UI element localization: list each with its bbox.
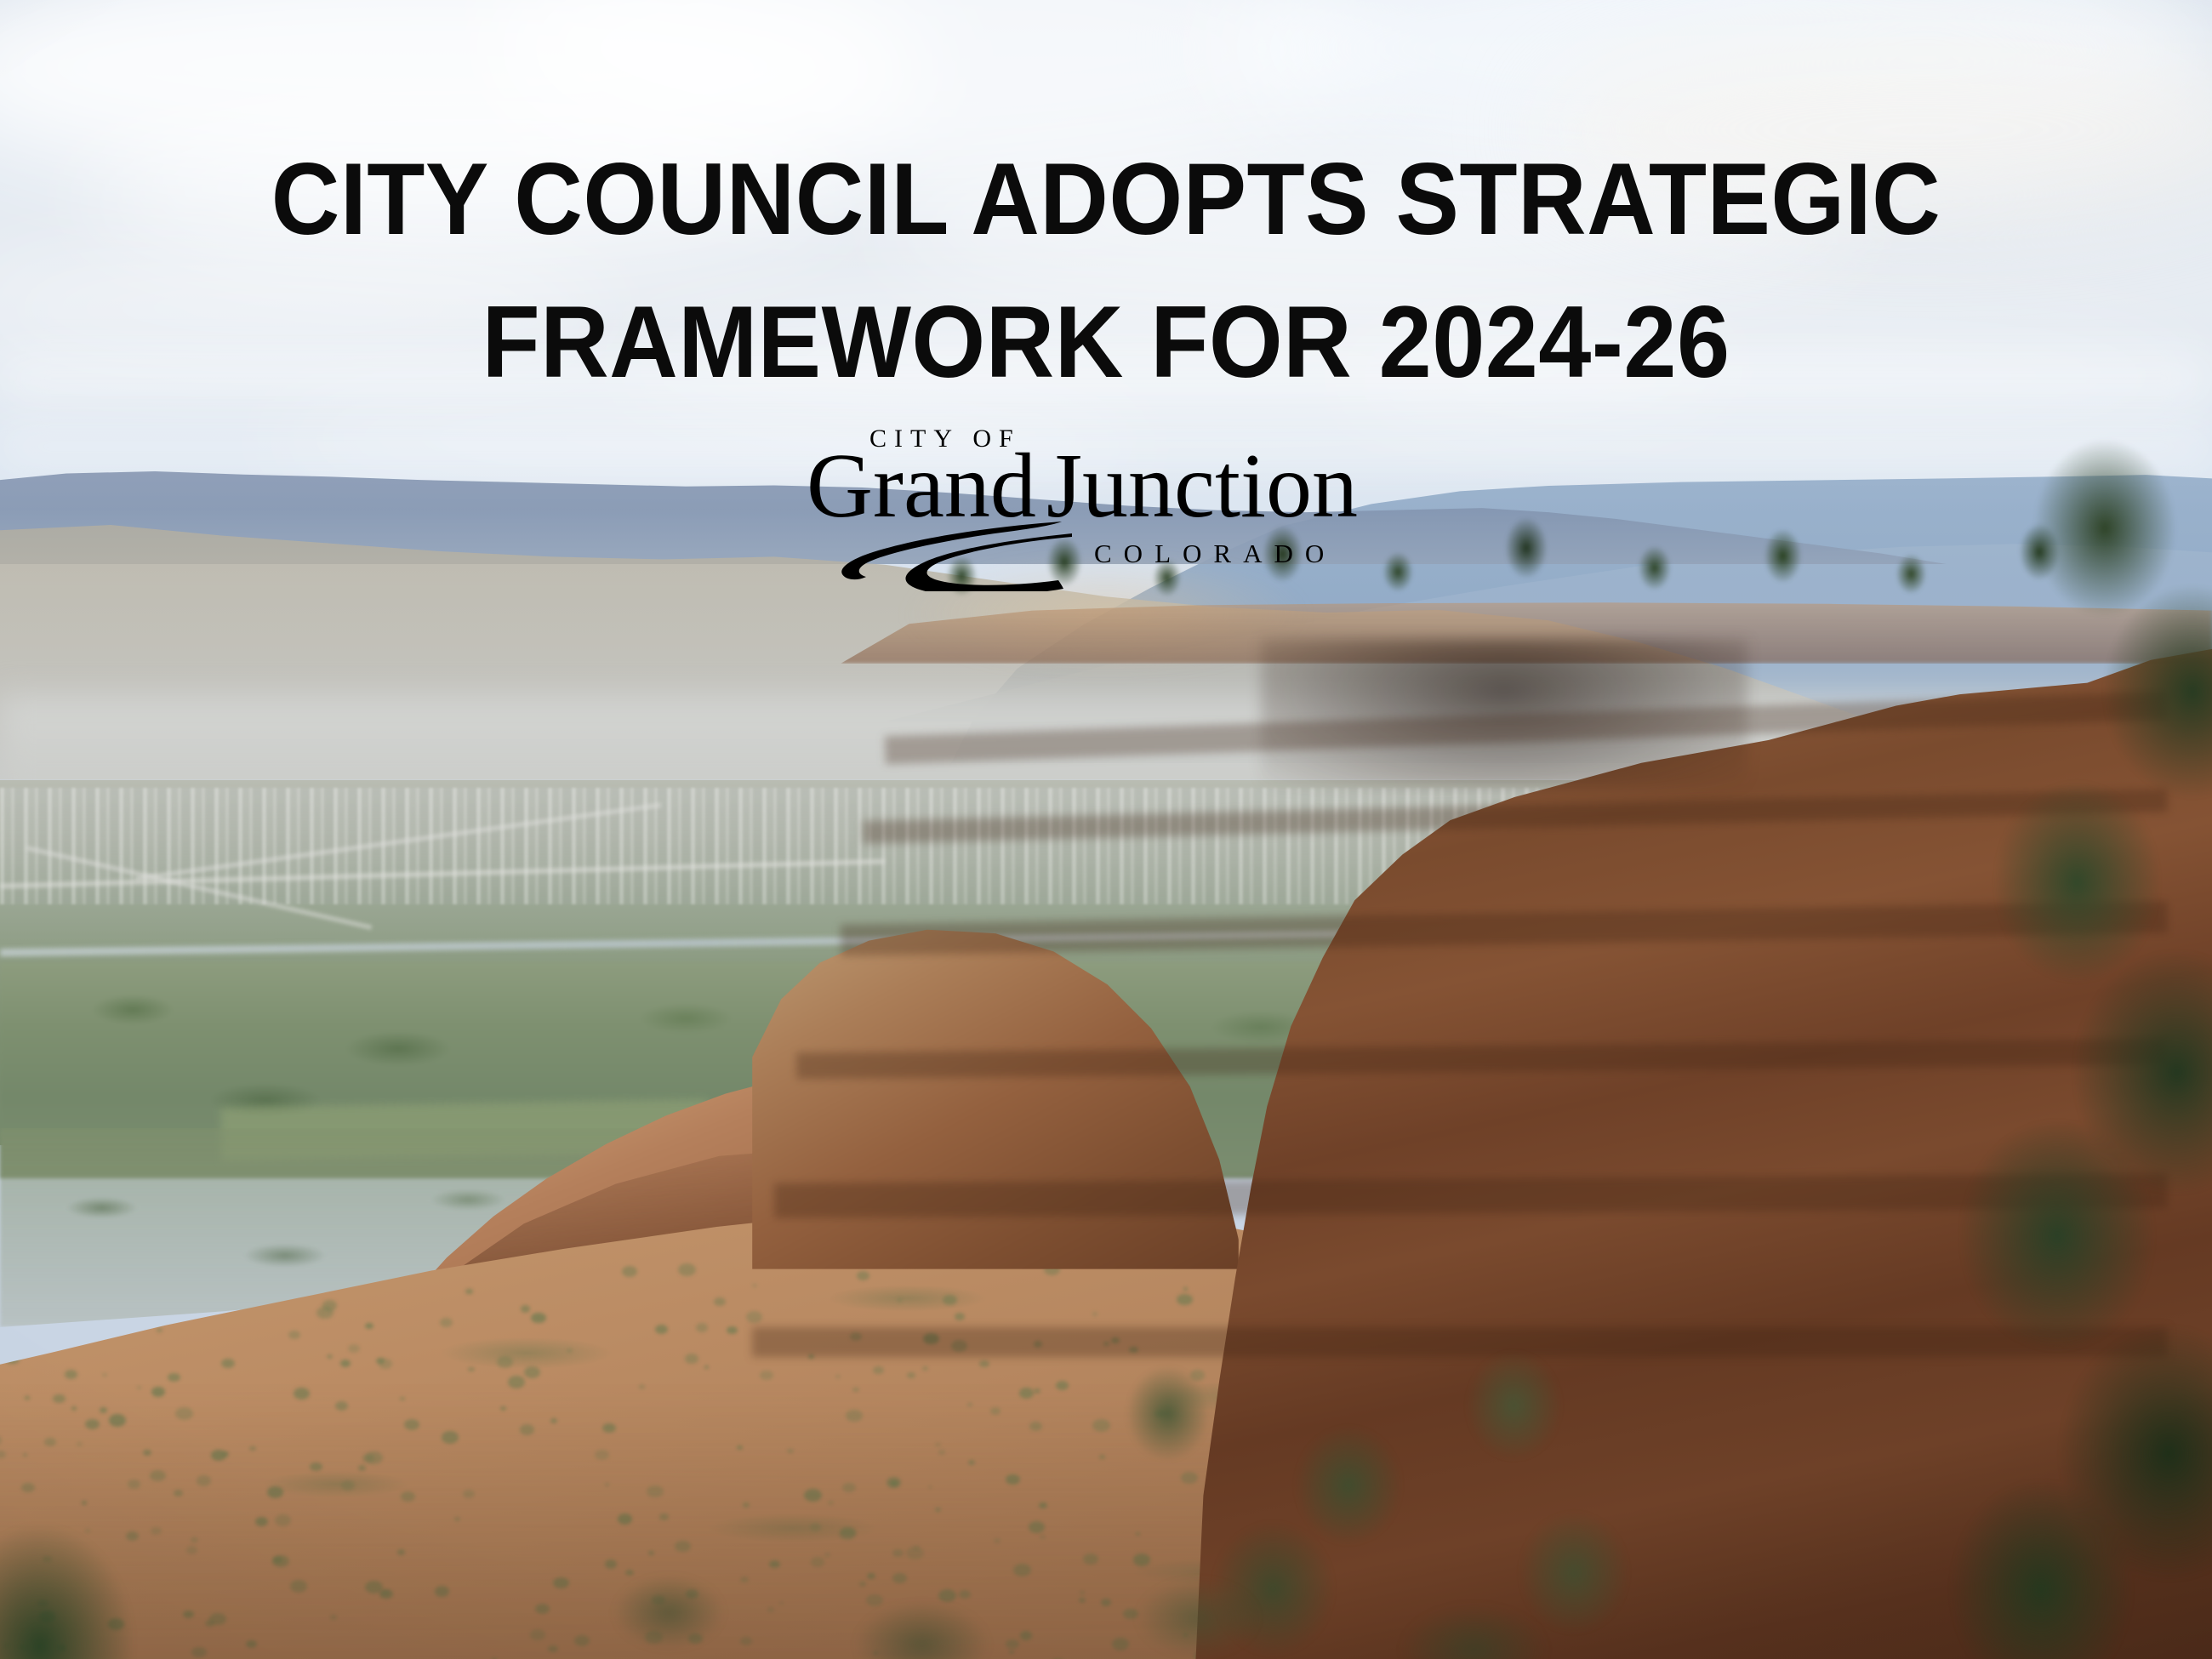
- sagebrush: [221, 1359, 234, 1368]
- sagebrush: [157, 1328, 162, 1331]
- logo-subline-colorado: COLORADO: [1094, 539, 1336, 568]
- sagebrush: [979, 1360, 989, 1368]
- sagebrush: [497, 1356, 513, 1368]
- sagebrush: [379, 1359, 392, 1369]
- sagebrush: [5, 1354, 20, 1364]
- sagebrush: [137, 1386, 141, 1389]
- headline-line-2: FRAMEWORK FOR 2024-26: [77, 271, 2135, 413]
- announcement-graphic: CITY COUNCIL ADOPTS STRATEGIC FRAMEWORK …: [0, 0, 2212, 1659]
- sagebrush: [524, 1366, 540, 1378]
- juniper-tree-cluster: [1858, 365, 2212, 1659]
- sagebrush: [327, 1354, 333, 1359]
- sagebrush: [727, 1326, 738, 1334]
- sagebrush: [696, 1323, 708, 1331]
- sagebrush: [316, 1307, 334, 1319]
- bottom-scrub: [531, 1427, 1681, 1659]
- sagebrush: [704, 1365, 709, 1369]
- city-logo: CITY OF Grand Junction COLORADO: [791, 413, 1421, 591]
- sagebrush: [521, 1305, 531, 1312]
- sagebrush: [531, 1313, 546, 1324]
- sagebrush: [907, 1372, 915, 1378]
- sagebrush: [508, 1376, 525, 1388]
- sagebrush: [65, 1370, 77, 1379]
- sagebrush: [63, 1331, 71, 1337]
- sagebrush: [440, 1318, 453, 1327]
- sagebrush: [873, 1366, 883, 1374]
- sagebrush: [465, 1289, 473, 1294]
- sagebrush: [852, 1388, 859, 1393]
- sagebrush: [639, 1384, 646, 1389]
- left-pine-branch: [0, 1526, 133, 1659]
- logo-wordmark-grand: Grand: [807, 436, 1036, 537]
- logo-wordmark-junction: Junction: [1046, 436, 1358, 537]
- sagebrush: [922, 1366, 928, 1371]
- sagebrush: [102, 1373, 107, 1377]
- sagebrush: [168, 1373, 180, 1382]
- sagebrush: [746, 1311, 763, 1323]
- sagebrush: [714, 1297, 726, 1306]
- sagebrush: [752, 1284, 757, 1288]
- sagebrush: [622, 1266, 637, 1277]
- sagebrush: [678, 1263, 696, 1276]
- sagebrush: [835, 1375, 841, 1379]
- sagebrush: [760, 1371, 772, 1380]
- sagebrush: [857, 1271, 870, 1280]
- sagebrush: [288, 1331, 300, 1339]
- sagebrush: [1183, 1287, 1189, 1291]
- sagebrush: [655, 1325, 668, 1334]
- sagebrush: [943, 1295, 957, 1305]
- sagebrush: [897, 1298, 903, 1303]
- page-title: CITY COUNCIL ADOPTS STRATEGIC FRAMEWORK …: [77, 128, 2135, 413]
- sagebrush: [955, 1313, 965, 1320]
- sagebrush: [685, 1354, 698, 1363]
- sagebrush: [365, 1323, 373, 1329]
- headline-line-1: CITY COUNCIL ADOPTS STRATEGIC: [77, 128, 2135, 271]
- sagebrush: [468, 1367, 475, 1371]
- sagebrush: [348, 1344, 360, 1353]
- sagebrush: [340, 1360, 351, 1367]
- sagebrush: [567, 1348, 573, 1353]
